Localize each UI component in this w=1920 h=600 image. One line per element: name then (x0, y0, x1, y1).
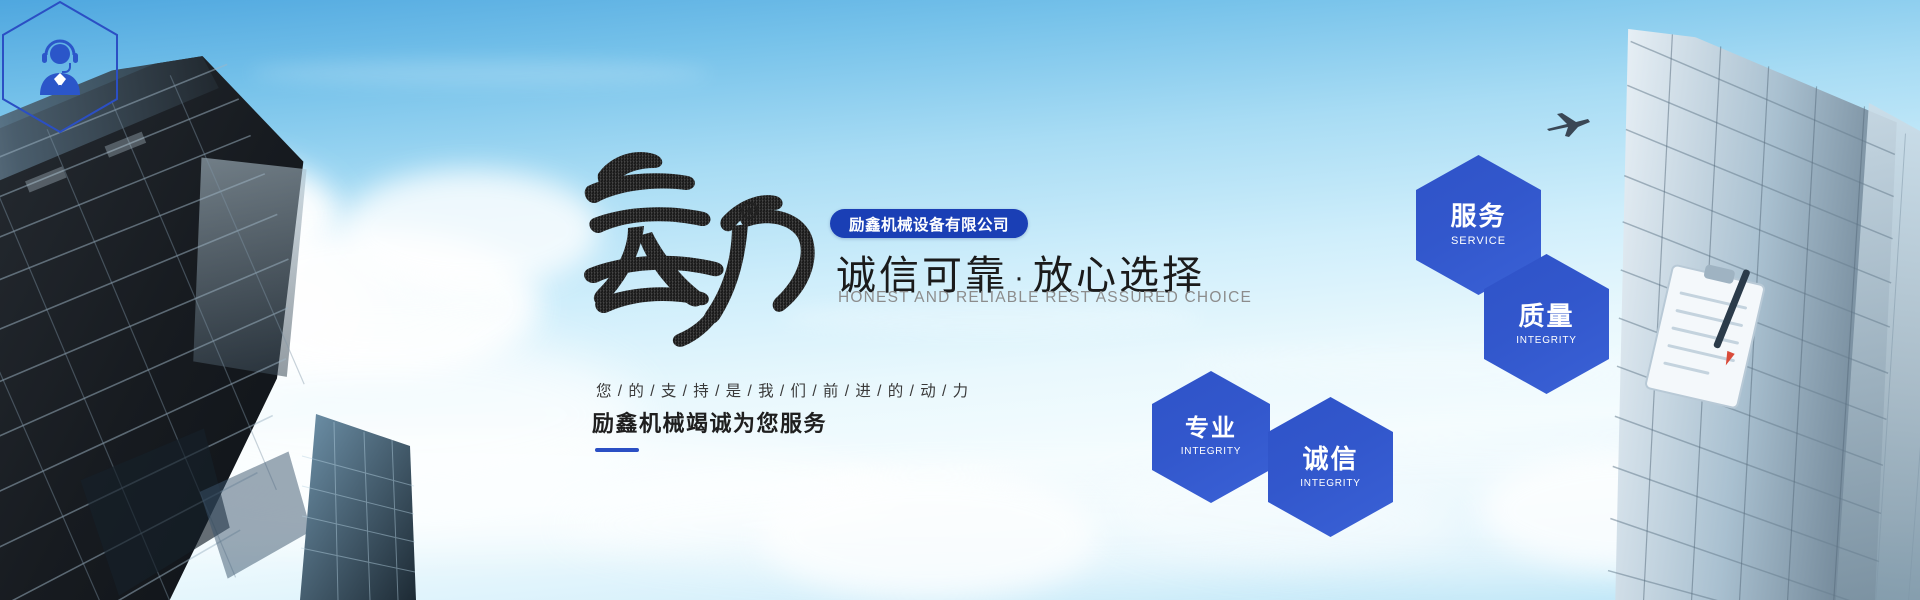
hexagon-quality-label: 质量 (1518, 303, 1574, 329)
hexagon-professional-sublabel: INTEGRITY (1181, 447, 1242, 457)
ring-dot-mark-icon (741, 202, 758, 219)
slogan-english: HONEST AND RELIABLE REST ASSURED CHOICE (838, 289, 1252, 307)
underline-accent (595, 448, 639, 452)
hexagon-service-sublabel: SERVICE (1451, 236, 1506, 247)
customer-service-agent-icon (34, 39, 86, 95)
hexagon-professional: 专业 INTEGRITY (1152, 371, 1270, 503)
hexagon-agent-outline (0, 0, 120, 134)
service-subline: 励鑫机械竭诚为您服务 (592, 406, 827, 438)
promo-banner: 励鑫机械设备有限公司 诚信可靠·放心选择 HONEST AND RELIABLE… (0, 0, 1920, 600)
tagline: 您 / 的 / 支 / 持 / 是 / 我 / 们 / 前 / 进 / 的 / … (596, 379, 969, 401)
hexagon-trust: 诚信 INTEGRITY (1268, 397, 1393, 537)
hexagon-quality-sublabel: INTEGRITY (1516, 336, 1577, 346)
company-badge: 励鑫机械设备有限公司 (830, 209, 1028, 238)
hexagon-service-label: 服务 (1450, 203, 1506, 229)
hexagon-professional-label: 专业 (1185, 417, 1237, 441)
calligraphy-shili (570, 140, 830, 360)
hexagon-trust-sublabel: INTEGRITY (1300, 479, 1361, 489)
hexagon-trust-label: 诚信 (1302, 446, 1358, 472)
content-layer: 励鑫机械设备有限公司 诚信可靠·放心选择 HONEST AND RELIABLE… (0, 0, 1920, 600)
